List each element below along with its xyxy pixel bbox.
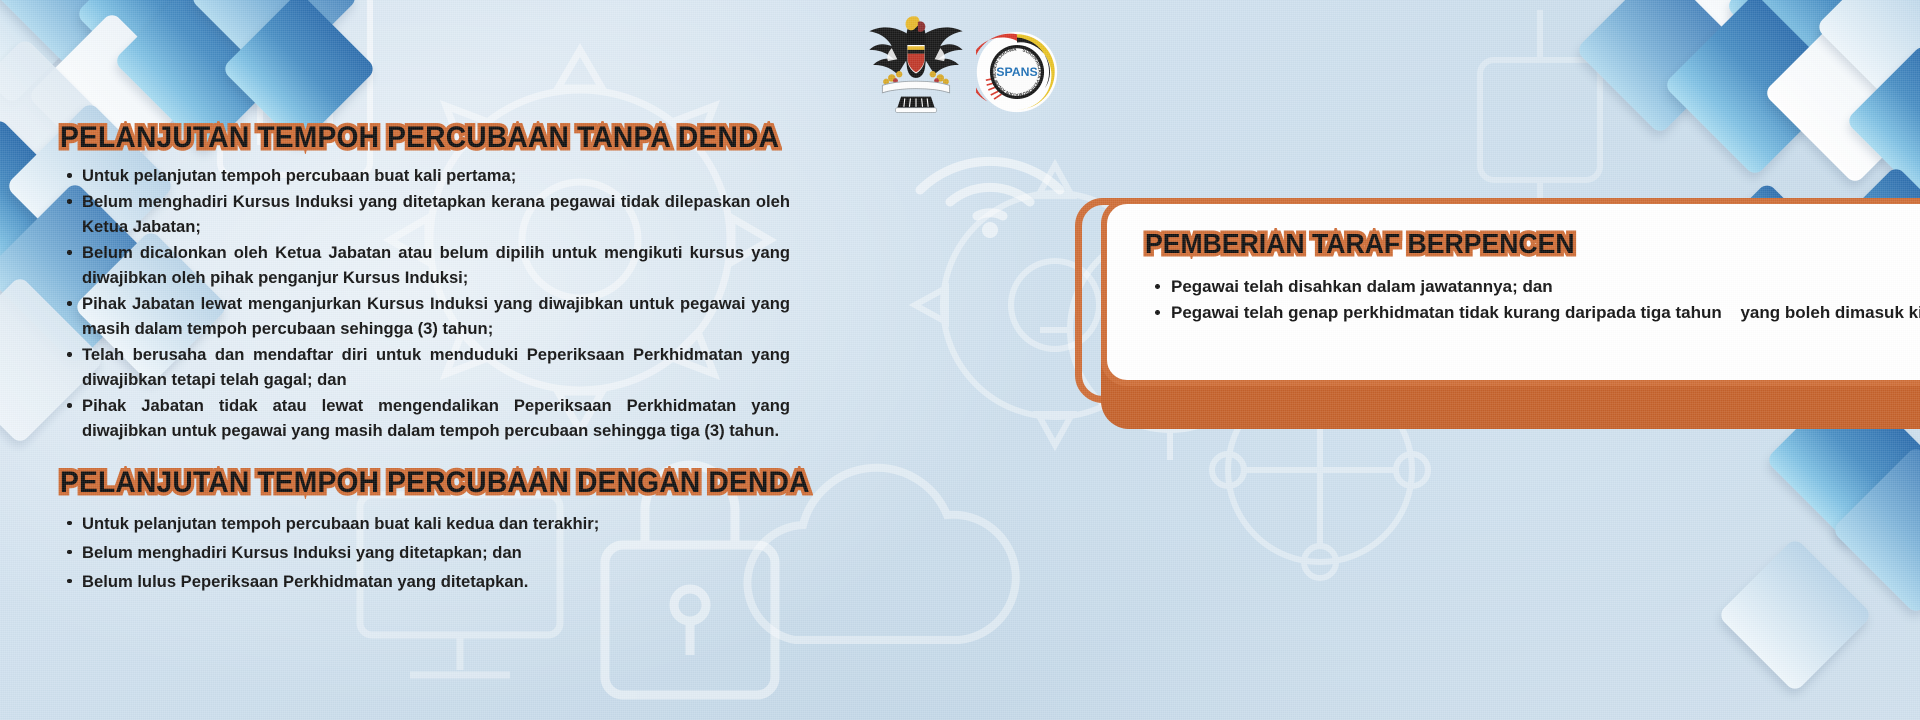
- list-item: Belum menghadiri Kursus Induksi yang dit…: [60, 540, 790, 565]
- pension-card-group: PEMBERIAN TARAF BERPENCEN Pegawai telah …: [1075, 198, 1920, 458]
- svg-text:SPANS: SPANS: [996, 65, 1037, 79]
- section2-bullet-list: Untuk pelanjutan tempoh percubaan buat k…: [60, 511, 790, 594]
- list-item: Pegawai telah genap perkhidmatan tidak k…: [1149, 300, 1920, 326]
- card-heading: PEMBERIAN TARAF BERPENCEN: [1145, 228, 1575, 260]
- list-item: Pihak Jabatan tidak atau lewat mengendal…: [60, 393, 790, 443]
- card-bullet-2-text: Pegawai telah genap perkhidmatan tidak k…: [1171, 303, 1722, 322]
- list-item: Telah berusaha dan mendaftar diri untuk …: [60, 342, 790, 392]
- list-item: Pegawai telah disahkan dalam jawatannya;…: [1149, 274, 1920, 300]
- card-bullet-2-continuation: yang boleh dimasuk kira.: [1726, 300, 1920, 326]
- logo-group: SURUHANJAYA PERKHIDMATAN AWAM NEGERI SAR…: [860, 4, 1070, 122]
- list-item: Belum menghadiri Kursus Induksi yang dit…: [60, 189, 790, 239]
- list-item: Belum dicalonkan oleh Ketua Jabatan atau…: [60, 240, 790, 290]
- section1-heading: PELANJUTAN TEMPOH PERCUBAAN TANPA DENDA: [60, 120, 779, 155]
- section1-bullet-list: Untuk pelanjutan tempoh percubaan buat k…: [60, 163, 790, 443]
- spans-logo-icon: SURUHANJAYA PERKHIDMATAN AWAM NEGERI SAR…: [976, 31, 1058, 113]
- list-item: Untuk pelanjutan tempoh percubaan buat k…: [60, 163, 790, 188]
- poster-canvas: SURUHANJAYA PERKHIDMATAN AWAM NEGERI SAR…: [0, 0, 1920, 720]
- section2-heading: PELANJUTAN TEMPOH PERCUBAAN DENGAN DENDA: [60, 465, 810, 500]
- list-item: Untuk pelanjutan tempoh percubaan buat k…: [60, 511, 790, 536]
- section1-heading-wrap: PELANJUTAN TEMPOH PERCUBAAN TANPA DENDA: [60, 120, 790, 155]
- sarawak-coat-of-arms-icon: [860, 7, 972, 119]
- pension-card: PEMBERIAN TARAF BERPENCEN Pegawai telah …: [1101, 198, 1920, 386]
- list-item: Pihak Jabatan lewat menganjurkan Kursus …: [60, 291, 790, 341]
- section2-heading-wrap: PELANJUTAN TEMPOH PERCUBAAN DENGAN DENDA: [60, 465, 790, 500]
- list-item: Belum lulus Peperiksaan Perkhidmatan yan…: [60, 569, 790, 594]
- left-content-column: PELANJUTAN TEMPOH PERCUBAAN TANPA DENDA …: [60, 120, 790, 598]
- card-bullet-list: Pegawai telah disahkan dalam jawatannya;…: [1149, 274, 1920, 326]
